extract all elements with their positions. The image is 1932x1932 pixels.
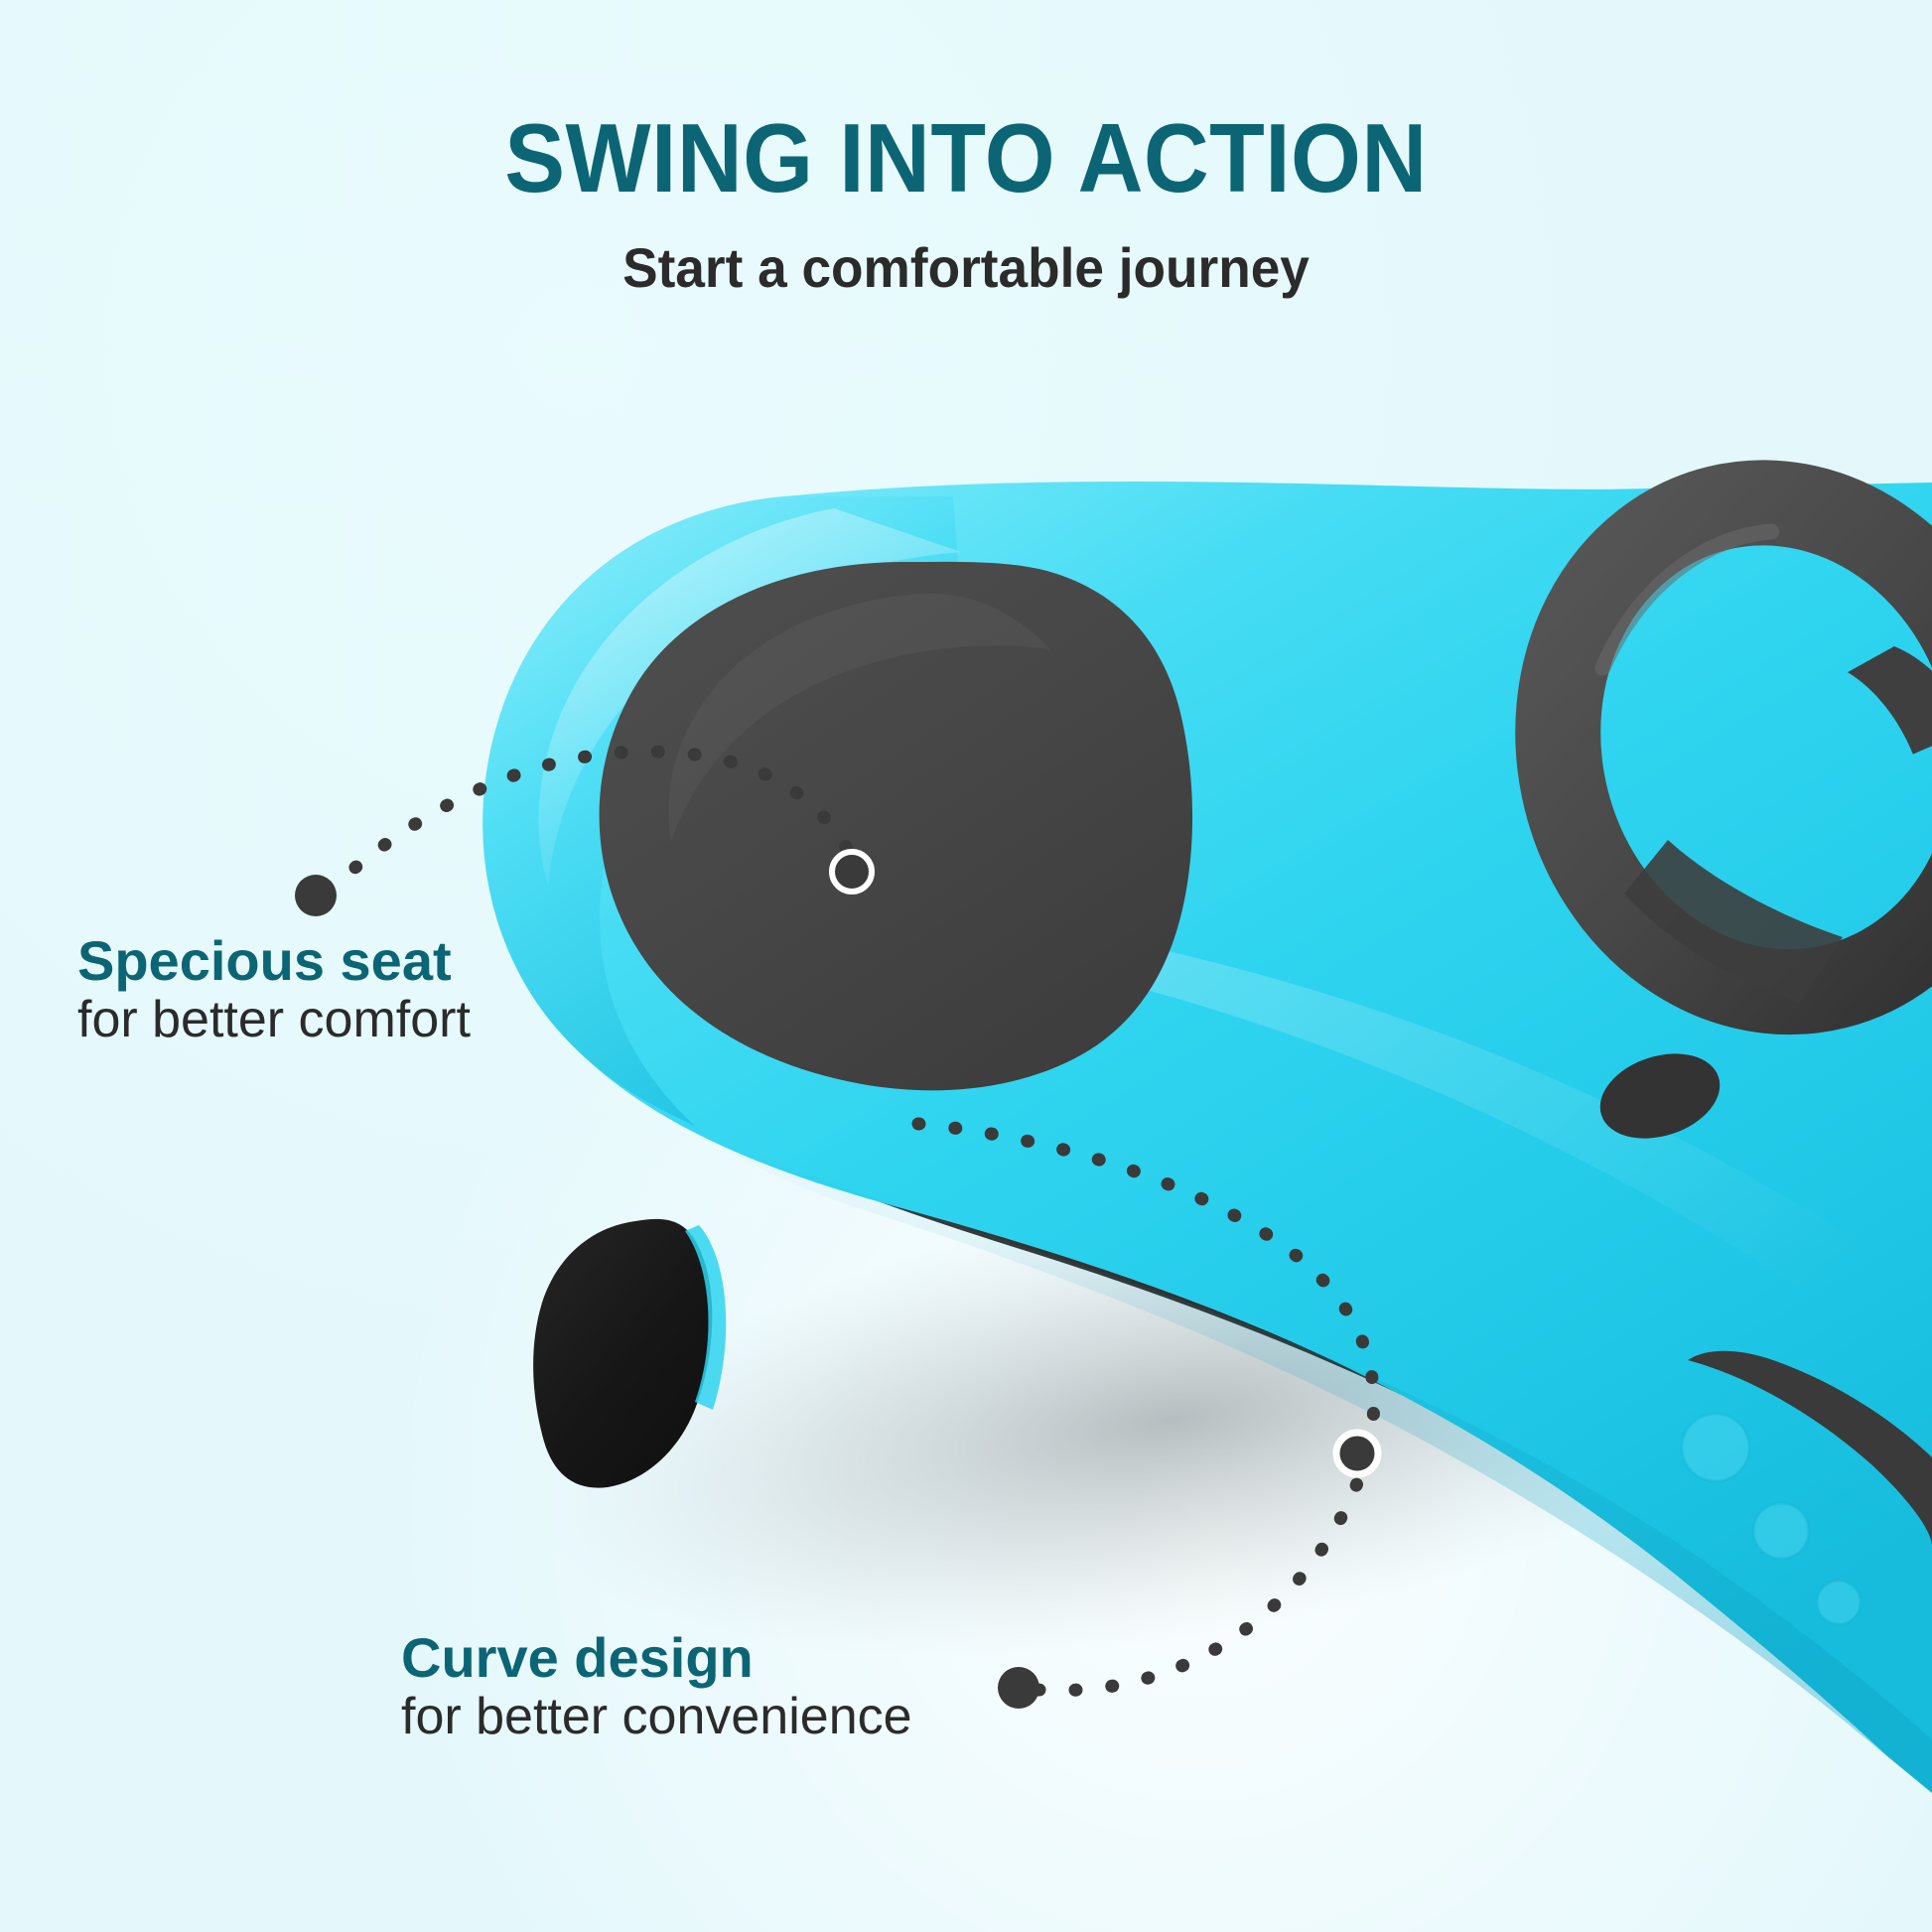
- seat-pad-sheen: [668, 594, 1050, 842]
- connector-origin-dot-seat: [295, 875, 337, 916]
- footrest-edge-highlight: [685, 1225, 726, 1410]
- seat-pad: [600, 562, 1192, 1090]
- body-sheen: [1082, 933, 1932, 1384]
- page-subtitle: Start a comfortable journey: [49, 207, 1884, 296]
- body-grip-bumps: [1682, 1414, 1861, 1624]
- callout-curve-design-sub: for better convenience: [401, 1688, 912, 1745]
- steering-column: [1624, 840, 1843, 1003]
- callout-curve-design: Curve design for better convenience: [401, 1628, 912, 1746]
- body-badge-oval: [1589, 1039, 1731, 1153]
- seat-rim: [483, 496, 961, 1126]
- callout-specious-seat-lead: Specious seat: [77, 931, 471, 991]
- steering-wheel: [1507, 456, 1932, 1038]
- product-feature-graphic: SWING INTO ACTION Start a comfortable jo…: [0, 0, 1932, 1932]
- connector-endpoint-ring-curve: [1336, 1433, 1378, 1474]
- body-shell: [483, 482, 1932, 1793]
- page-title: SWING INTO ACTION: [68, 0, 1864, 207]
- body-swoosh-accent: [1688, 1351, 1932, 1545]
- footrest: [533, 1219, 712, 1488]
- callout-specious-seat: Specious seat for better comfort: [77, 931, 471, 1049]
- connector-origin-dot-curve: [998, 1667, 1039, 1709]
- connector-endpoint-ring-seat: [832, 852, 872, 892]
- connector-line-specious-seat: [295, 752, 872, 916]
- header: SWING INTO ACTION Start a comfortable jo…: [0, 0, 1932, 296]
- callout-specious-seat-sub: for better comfort: [77, 991, 471, 1048]
- callout-curve-design-lead: Curve design: [401, 1628, 912, 1688]
- connector-line-curve-design: [894, 1122, 1378, 1709]
- body-highlight-top: [539, 508, 961, 886]
